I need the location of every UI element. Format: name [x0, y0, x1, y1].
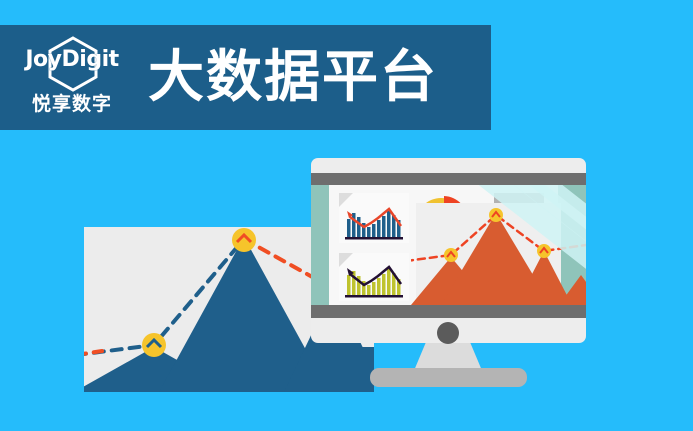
bar-chart-card-olive	[339, 253, 409, 301]
brand-logo: JoyDigit 悦享数字	[12, 34, 132, 122]
logo-wordmark: JoyDigit	[12, 47, 132, 72]
monitor-bottom-bar	[311, 305, 586, 318]
poster-canvas: JoyDigit 悦享数字 大数据平台	[0, 0, 693, 431]
screen-left-band	[311, 185, 329, 305]
monitor-top-bar	[311, 173, 586, 185]
monitor-power-dot	[437, 322, 459, 344]
monitor-screen	[311, 185, 586, 305]
desktop-monitor	[311, 158, 586, 343]
bar-chart-card-blue	[339, 193, 409, 243]
monitor-base	[370, 368, 527, 387]
logo-subtitle: 悦享数字	[12, 89, 132, 116]
